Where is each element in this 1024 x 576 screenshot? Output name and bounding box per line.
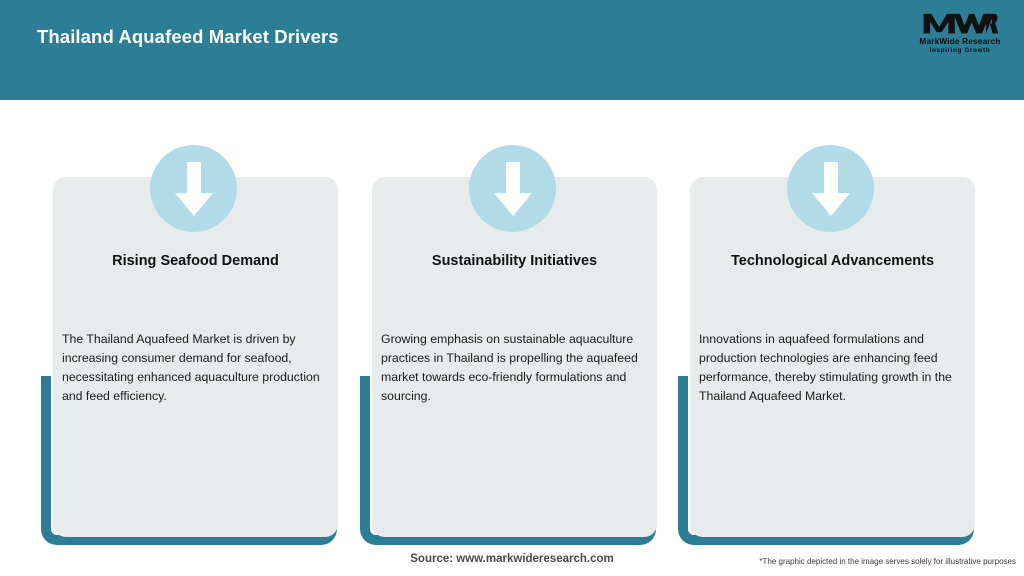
card-body-text: Innovations in aquafeed formulations and…: [699, 330, 967, 406]
driver-card-2[interactable]: Sustainability Initiatives Growing empha…: [360, 145, 665, 545]
card-title: Technological Advancements: [690, 253, 975, 269]
drivers-card-row: Rising Seafood Demand The Thailand Aquaf…: [0, 0, 1024, 576]
arrow-down-icon: [469, 145, 556, 232]
card-title: Rising Seafood Demand: [53, 253, 338, 269]
card-body-text: Growing emphasis on sustainable aquacult…: [381, 330, 649, 406]
card-title: Sustainability Initiatives: [372, 253, 657, 269]
disclaimer-label: *The graphic depicted in the image serve…: [759, 557, 1016, 566]
arrow-down-icon: [787, 145, 874, 232]
card-body-text: The Thailand Aquafeed Market is driven b…: [62, 330, 330, 406]
driver-card-3[interactable]: Technological Advancements Innovations i…: [678, 145, 983, 545]
arrow-down-icon: [150, 145, 237, 232]
driver-card-1[interactable]: Rising Seafood Demand The Thailand Aquaf…: [41, 145, 346, 545]
